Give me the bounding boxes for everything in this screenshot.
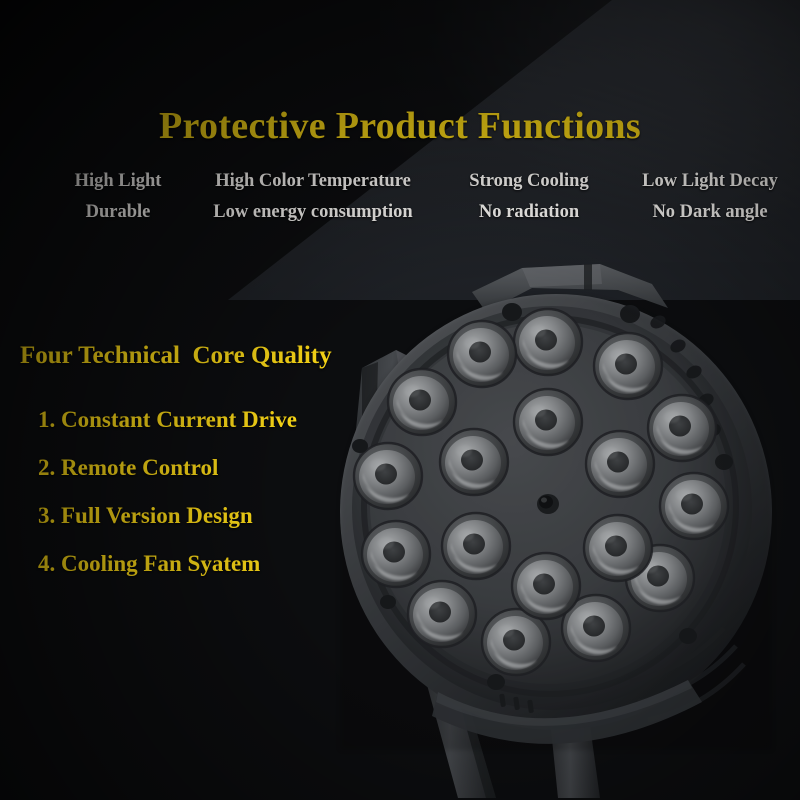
- section-title-core-quality: Four Technical Core Quality: [20, 342, 332, 370]
- quality-item-constant-current-drive: 1. Constant Current Drive: [38, 396, 297, 444]
- feature-item-high-color-temperature: High Color Temperature: [186, 168, 440, 195]
- quality-item-full-version-design: 3. Full Version Design: [38, 492, 297, 540]
- feature-item-high-light: High Light: [50, 168, 186, 195]
- feature-list: High Light High Color Temperature Strong…: [50, 168, 762, 226]
- feature-item-low-light-decay: Low Light Decay: [618, 168, 800, 195]
- quality-item-remote-control: 2. Remote Control: [38, 444, 297, 492]
- feature-item-low-energy-consumption: Low energy consumption: [186, 199, 440, 226]
- feature-item-strong-cooling: Strong Cooling: [440, 168, 618, 195]
- core-quality-list: 1. Constant Current Drive 2. Remote Cont…: [38, 396, 297, 588]
- quality-item-cooling-fan-system: 4. Cooling Fan Syatem: [38, 540, 297, 588]
- page-title: Protective Product Functions: [0, 106, 800, 148]
- feature-item-no-dark-angle: No Dark angle: [618, 199, 800, 226]
- feature-item-durable: Durable: [50, 199, 186, 226]
- product-promo-image: Protective Product Functions High Light …: [0, 0, 800, 800]
- feature-item-no-radiation: No radiation: [440, 199, 618, 226]
